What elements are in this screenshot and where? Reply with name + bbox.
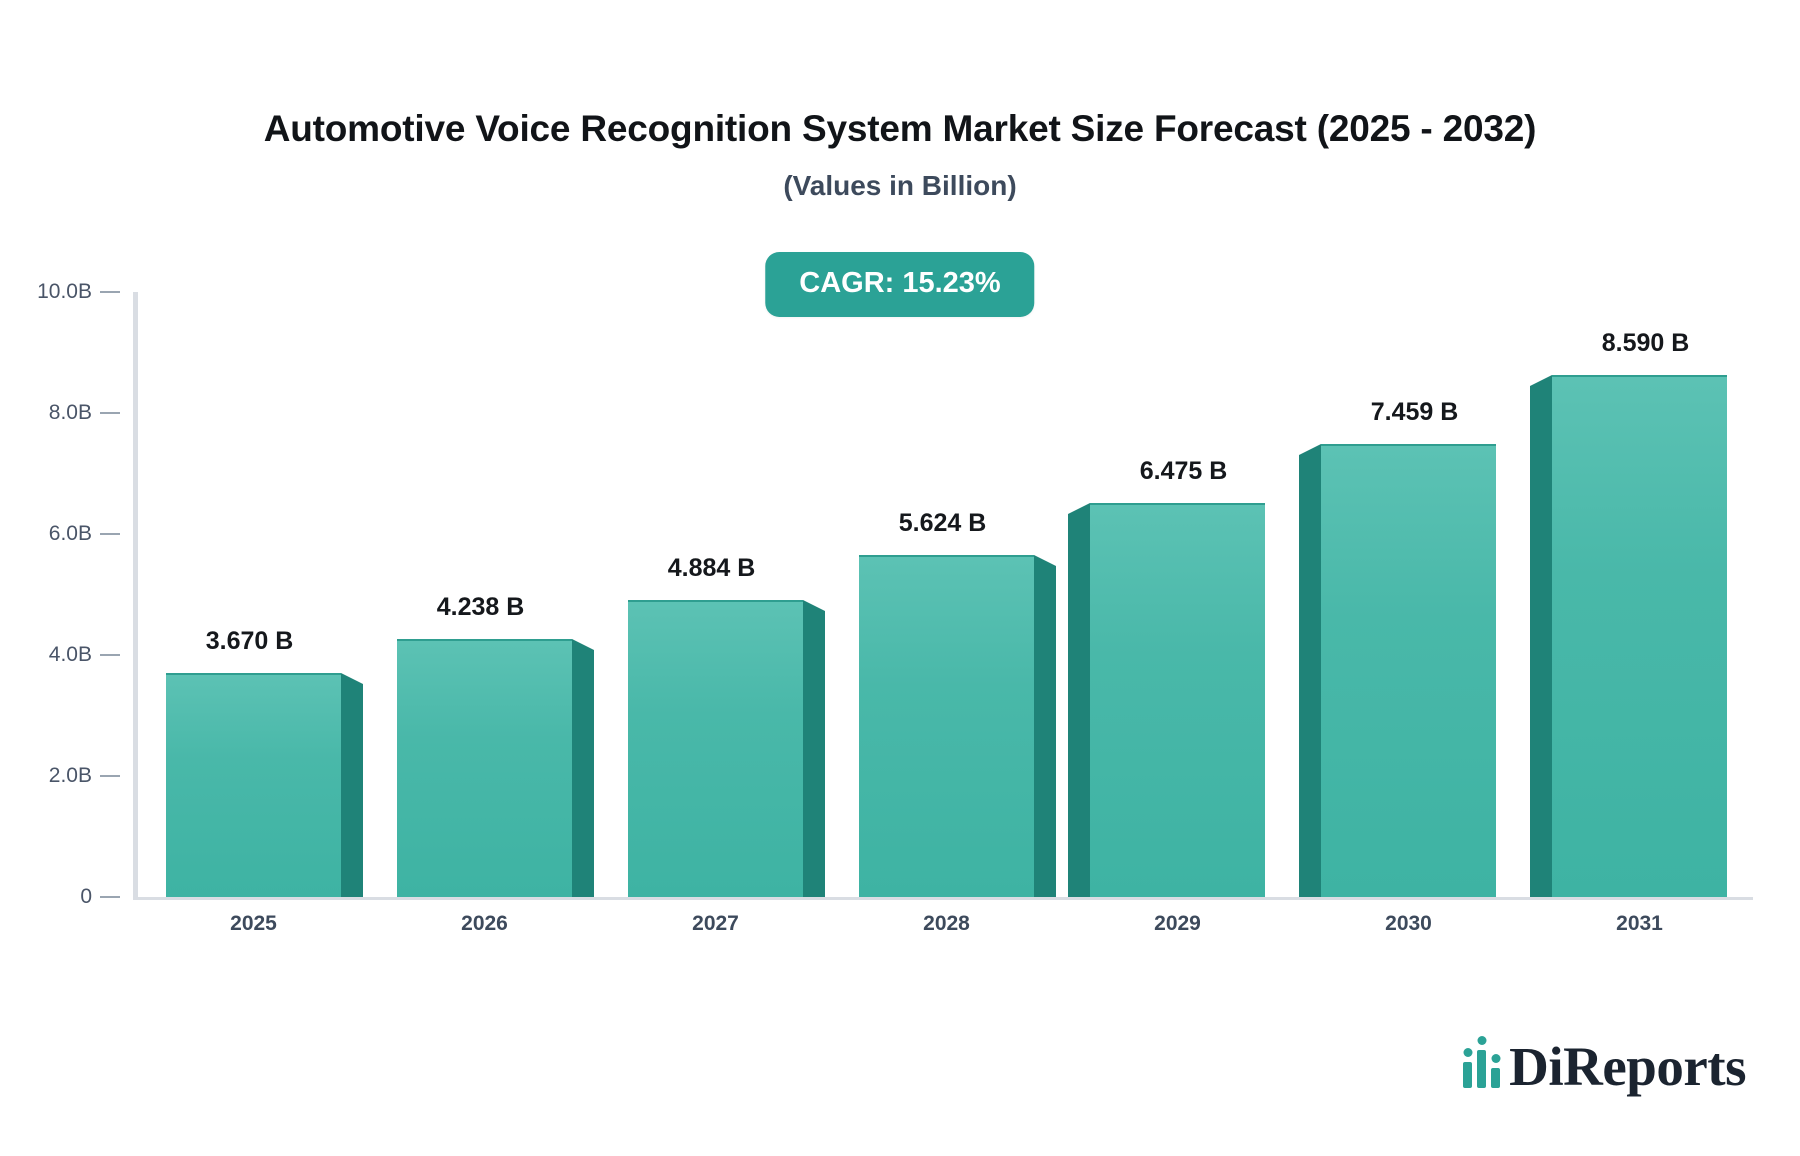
y-axis-tick-mark (100, 896, 120, 898)
bar-value-label: 8.590 B (1602, 329, 1690, 358)
bar-front-face (1321, 444, 1496, 897)
y-axis-tick-label: 8.0B (0, 401, 92, 425)
bar-value-label: 7.459 B (1371, 398, 1459, 427)
bar-value-label: 5.624 B (899, 509, 987, 538)
bar-2028[interactable] (859, 557, 1034, 897)
bar-2026[interactable] (397, 641, 572, 897)
bar-2027[interactable] (628, 602, 803, 897)
bar-value-label: 6.475 B (1140, 457, 1228, 486)
y-axis-tick-label: 4.0B (0, 643, 92, 667)
bar-top-bevel (341, 673, 363, 684)
y-axis-tick-mark (100, 654, 120, 656)
bar-side-face (572, 650, 594, 897)
bar-chart-icon (1463, 1050, 1500, 1088)
x-axis-tick-label: 2026 (461, 912, 508, 936)
x-axis-tick-label: 2031 (1616, 912, 1663, 936)
logo-text: DiReports (1509, 1039, 1746, 1094)
bar-side-face (1530, 386, 1552, 897)
x-axis-tick-label: 2025 (230, 912, 277, 936)
bar-front-face (1090, 503, 1265, 897)
y-axis-tick-label: 6.0B (0, 522, 92, 546)
bar-front-face (628, 600, 803, 897)
bar-front-face (1552, 375, 1727, 897)
y-axis-tick-mark (100, 291, 120, 293)
bar-side-face (341, 684, 363, 897)
chart-page: Automotive Voice Recognition System Mark… (0, 0, 1800, 1156)
bar-top-bevel (1034, 555, 1056, 566)
bar-value-label: 3.670 B (206, 627, 294, 656)
y-axis-tick-mark (100, 412, 120, 414)
direports-logo: DiReports (1463, 1039, 1746, 1094)
bar-top-bevel (1299, 444, 1321, 455)
bar-side-face (803, 611, 825, 897)
bar-top-bevel (572, 639, 594, 650)
bar-chart-plot: 02.0B4.0B6.0B8.0B10.0B3.670 B20254.238 B… (0, 0, 1800, 1156)
x-axis-tick-label: 2030 (1385, 912, 1432, 936)
bar-front-face (166, 673, 341, 897)
bar-top-bevel (1530, 375, 1552, 386)
bar-side-face (1299, 455, 1321, 897)
bar-2031[interactable] (1552, 377, 1727, 897)
x-axis-tick-label: 2029 (1154, 912, 1201, 936)
y-axis-tick-label: 2.0B (0, 764, 92, 788)
bar-front-face (397, 639, 572, 897)
y-axis-tick-mark (100, 775, 120, 777)
bar-value-label: 4.884 B (668, 554, 756, 583)
bar-value-label: 4.238 B (437, 593, 525, 622)
y-axis-tick-mark (100, 533, 120, 535)
bar-side-face (1068, 514, 1090, 897)
bar-top-bevel (1068, 503, 1090, 514)
y-axis-tick-label: 10.0B (0, 280, 92, 304)
x-axis-tick-label: 2028 (923, 912, 970, 936)
bar-2030[interactable] (1321, 446, 1496, 897)
x-axis-tick-label: 2027 (692, 912, 739, 936)
bar-top-bevel (803, 600, 825, 611)
bar-front-face (859, 555, 1034, 897)
bar-2025[interactable] (166, 675, 341, 897)
y-axis-line (133, 292, 138, 900)
bar-2029[interactable] (1090, 505, 1265, 897)
x-axis-line (133, 897, 1753, 900)
bar-side-face (1034, 566, 1056, 897)
y-axis-tick-label: 0 (0, 885, 92, 909)
